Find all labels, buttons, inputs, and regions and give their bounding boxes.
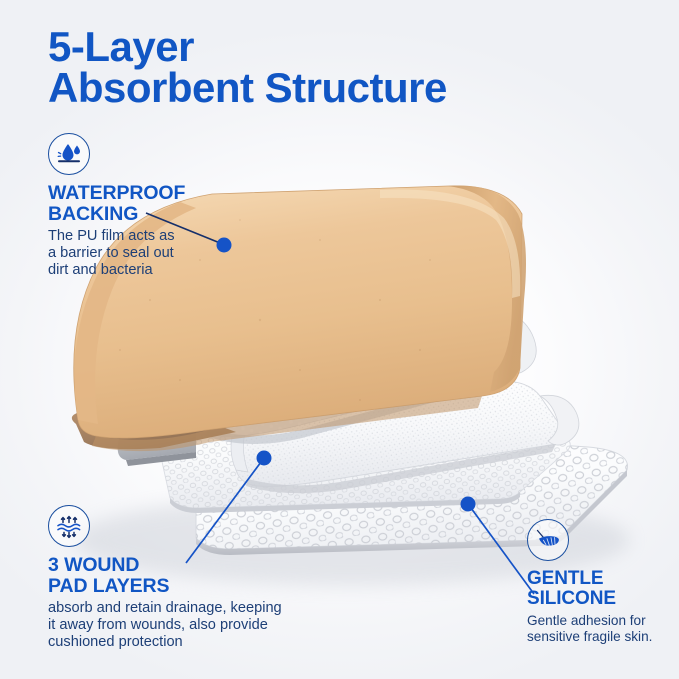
callout-body: absorb and retain drainage, keeping it a… (48, 600, 338, 651)
callout-heading: GENTLE SILICONE (527, 569, 679, 609)
callout-body: Gentle adhesion for sensitive fragile sk… (527, 613, 679, 645)
absorption-waves-icon (48, 505, 90, 547)
callout-wound-pad-layers: 3 WOUND PAD LAYERS absorb and retain dra… (48, 505, 338, 652)
callout-heading: 3 WOUND PAD LAYERS (48, 555, 338, 596)
feather-icon (527, 519, 569, 561)
callout-body: The PU film acts as a barrier to seal ou… (48, 228, 263, 279)
infographic-canvas: 5-Layer Absorbent Structure (0, 0, 679, 679)
callout-heading: WATERPROOF BACKING (48, 183, 263, 224)
callout-gentle-silicone: GENTLE SILICONE Gentle adhesion for sens… (527, 519, 679, 645)
water-droplet-icon (48, 133, 90, 175)
callout-waterproof-backing: WATERPROOF BACKING The PU film acts as a… (48, 133, 263, 280)
